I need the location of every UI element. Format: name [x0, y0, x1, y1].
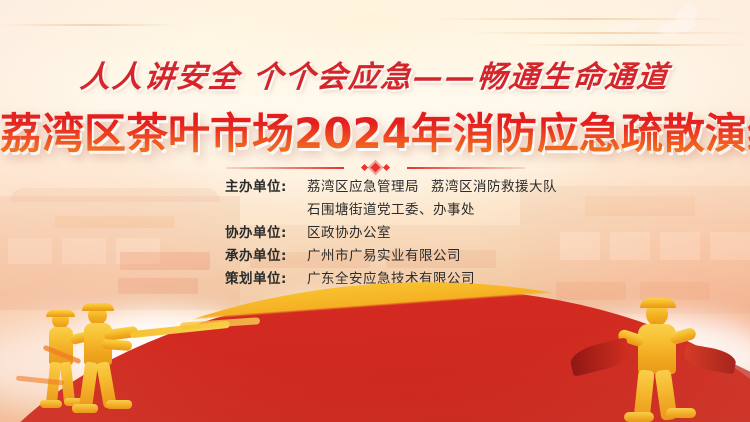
credit-label: 策划单位 [225, 268, 307, 291]
credit-row: 主办单位 荔湾区应急管理局荔湾区消防救援大队 [225, 176, 525, 199]
ribbon-streak [520, 44, 750, 46]
credit-label: 承办单位 [225, 245, 307, 268]
firefighter-silhouette [612, 298, 732, 422]
credit-value: 广州市广易实业有限公司 [307, 245, 461, 268]
credit-value: 区政协办公室 [307, 222, 391, 245]
divider [0, 162, 750, 173]
dove-icon [608, 20, 642, 36]
credit-value: 荔湾区应急管理局荔湾区消防救援大队 [307, 176, 557, 199]
divider-line-right [407, 167, 525, 169]
divider-line-left [226, 167, 344, 169]
credit-label: 协办单位 [225, 222, 307, 245]
poster-subtitle: 人人讲安全 个个会应急——畅通生命通道 [0, 52, 750, 96]
credit-row: 承办单位 广州市广易实业有限公司 [225, 245, 525, 268]
firefighters-with-hose-silhouette [30, 300, 180, 420]
ribbon-streak [0, 24, 180, 26]
dove-icon [655, 8, 713, 42]
divider-diamond-ornament-icon [362, 162, 389, 173]
poster-canvas: 人人讲安全 个个会应急——畅通生命通道 荔湾区茶叶市场2024年消防应急疏散演练… [0, 0, 750, 422]
credits-block: 主办单位 荔湾区应急管理局荔湾区消防救援大队 主办单位 石围塘街道党工委、办事处… [0, 176, 750, 291]
credit-value: 石围塘街道党工委、办事处 [307, 199, 475, 222]
equipment-shape [682, 344, 737, 375]
poster-main-title: 荔湾区茶叶市场2024年消防应急疏散演练 [0, 100, 750, 161]
credit-row: 主办单位 石围塘街道党工委、办事处 [225, 199, 525, 222]
credit-label: 主办单位 [225, 176, 307, 199]
credit-row: 协办单位 区政协办公室 [225, 222, 525, 245]
